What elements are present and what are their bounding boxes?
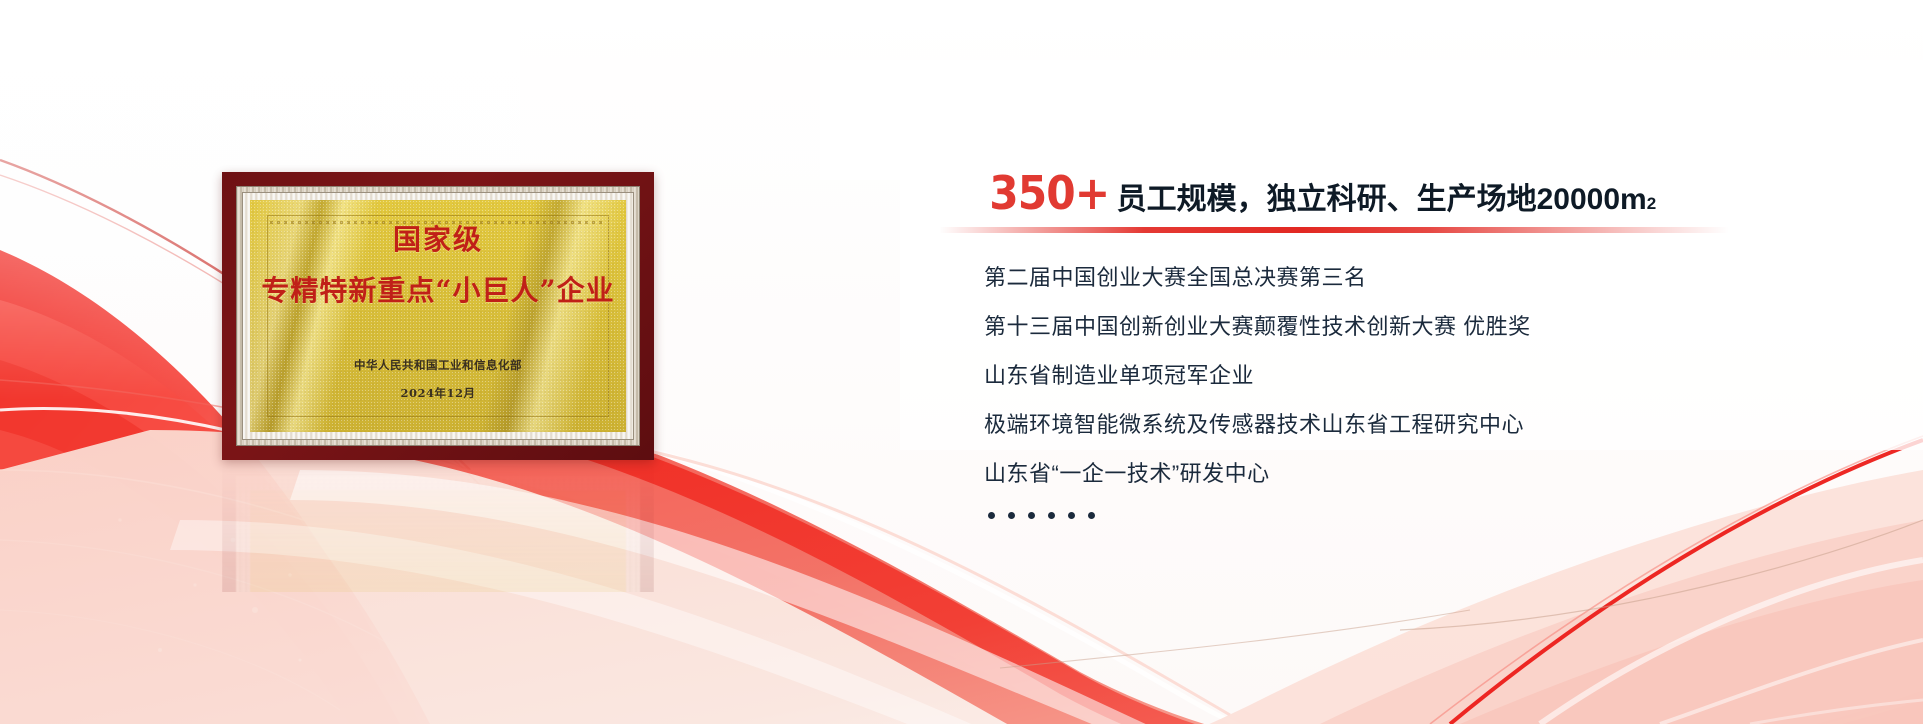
plaque-frame: 国家级 专精特新重点“小巨人”企业 中华人民共和国工业和信息化部 2024年12…: [222, 172, 654, 460]
award-plaque: 国家级 专精特新重点“小巨人”企业 中华人民共和国工业和信息化部 2024年12…: [222, 172, 654, 460]
headline-superscript: 2: [1647, 194, 1656, 214]
plaque-text-block: 国家级 专精特新重点“小巨人”企业 中华人民共和国工业和信息化部 2024年12…: [222, 172, 654, 460]
list-item: 第二届中国创业大赛全国总决赛第三名: [984, 267, 1884, 289]
plaque-date: 2024年12月: [400, 385, 475, 401]
headline-metric-text: 员工规模，独立科研、生产场地20000m: [1117, 185, 1647, 215]
ellipsis-dot: [988, 512, 995, 519]
ellipsis-dot: [1068, 512, 1075, 519]
ellipsis-dot: [1008, 512, 1015, 519]
headline-metric-number: 350+: [989, 170, 1109, 216]
plaque-title-line-2: 专精特新重点“小巨人”企业: [261, 277, 614, 305]
list-item: 山东省“一企一技术”研发中心: [984, 463, 1884, 485]
list-item: 山东省制造业单项冠军企业: [984, 365, 1884, 387]
headline: 350+ 员工规模，独立科研、生产场地20000m 2: [984, 170, 1884, 216]
plaque-title-line-1: 国家级: [393, 226, 483, 254]
plaque-issuer: 中华人民共和国工业和信息化部: [354, 357, 522, 373]
awards-ellipsis: [984, 512, 1884, 519]
promo-banner: 国家级 专精特新重点“小巨人”企业 中华人民共和国工业和信息化部 2024年12…: [0, 0, 1923, 724]
ellipsis-dot: [1028, 512, 1035, 519]
ellipsis-dot: [1048, 512, 1055, 519]
content-column: 350+ 员工规模，独立科研、生产场地20000m 2 第二届中国创业大赛全国总…: [984, 170, 1884, 519]
list-item: 极端环境智能微系统及传感器技术山东省工程研究中心: [984, 414, 1884, 436]
list-item: 第十三届中国创新创业大赛颠覆性技术创新大赛 优胜奖: [984, 316, 1884, 338]
awards-list: 第二届中国创业大赛全国总决赛第三名 第十三届中国创新创业大赛颠覆性技术创新大赛 …: [984, 267, 1884, 519]
ellipsis-dot: [1088, 512, 1095, 519]
headline-divider: [939, 227, 1729, 233]
